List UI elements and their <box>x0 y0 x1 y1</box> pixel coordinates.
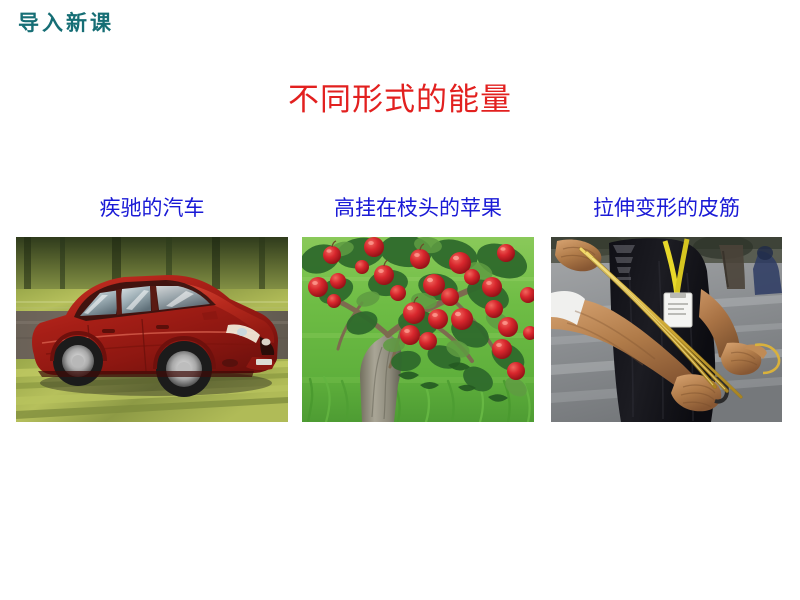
apple-tree-photo <box>302 237 534 422</box>
figure-band: 拉伸变形的皮筋 <box>551 196 782 422</box>
page-title-text: 不同形式的能量 <box>288 82 512 117</box>
figure-caption-band: 拉伸变形的皮筋 <box>551 196 782 224</box>
section-label: 导入新课 <box>18 9 238 37</box>
figure-apple: 高挂在枝头的苹果 <box>302 196 534 422</box>
page-title: 不同形式的能量 <box>0 74 800 119</box>
red-car-in-motion-svg <box>16 237 288 422</box>
figure-row: 疾驰的汽车 <box>0 196 800 428</box>
slide-header: 导入新课 <box>18 9 238 43</box>
red-car-in-motion-photo <box>16 237 288 422</box>
stretched-rubber-band-photo <box>551 237 782 422</box>
figure-caption-car: 疾驰的汽车 <box>16 196 288 224</box>
stretched-rubber-band-svg <box>551 237 782 422</box>
figure-car: 疾驰的汽车 <box>16 196 288 422</box>
apple-tree-svg <box>302 237 534 422</box>
figure-caption-apple: 高挂在枝头的苹果 <box>302 196 534 224</box>
